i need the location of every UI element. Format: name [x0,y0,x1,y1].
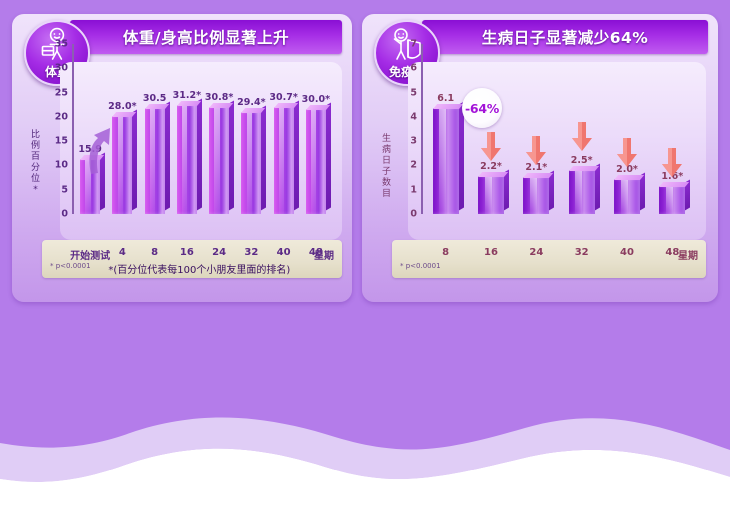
bar: 29.4* [241,112,261,214]
bar-face [145,108,165,214]
bar-value-label: 31.2* [173,90,201,101]
bar-face [659,186,685,214]
down-arrow-icon [480,132,502,162]
bar-top [523,173,553,178]
bar: 2.2* [478,176,504,214]
weight-x-axis-floor: 开始测试481624324048 星期 * p<0.0001 *(百分位代表每1… [42,240,342,278]
weight-title-bar: 体重/身高比例显著上升 [70,20,342,54]
bar-top [478,172,508,177]
bar-gloss [182,105,187,214]
y-tick: 30 [55,63,68,74]
immunity-title: 生病日子显著减少64% [482,26,649,48]
x-tick: 24 [529,247,543,258]
y-tick: 2 [410,160,417,171]
bar-value-label: 2.2* [480,161,502,172]
bar-face [241,112,261,214]
weight-title: 体重/身高比例显著上升 [123,26,289,48]
bar-side [260,105,266,211]
bar-top [241,108,265,113]
bar-face [177,105,197,214]
bar-face [523,177,549,214]
bar: 30.8* [209,107,229,214]
bar-gloss [485,176,492,214]
bar-face [433,108,459,214]
y-tick: 0 [61,209,68,220]
bar: 1.6* [659,186,685,214]
bar-top [145,104,169,109]
y-tick: 35 [55,39,68,50]
weight-x-unit: 星期 [314,247,334,262]
bar-face [569,170,595,214]
bar-side [228,100,234,211]
y-tick: 5 [410,87,417,98]
down-arrow-icon [571,122,593,152]
immunity-title-bar: 生病日子显著减少64% [422,20,708,54]
y-tick: 20 [55,111,68,122]
bar-gloss [214,107,219,214]
y-tick: 3 [410,136,417,147]
bar-gloss [530,177,537,214]
y-tick: 4 [410,111,417,122]
x-tick: 40 [620,247,634,258]
bar: 30.7* [274,107,294,214]
bar-face [306,109,326,214]
bar-value-label: 30.7* [269,92,297,103]
immunity-footnote-p: * p<0.0001 [400,262,441,270]
y-tick: 6 [410,63,417,74]
bar-value-label: 30.8* [205,92,233,103]
bar-value-label: 28.0* [108,101,136,112]
bar: 2.1* [523,177,549,214]
bar: 30.5 [145,108,165,214]
x-tick: 4 [119,247,126,258]
immunity-y-ticks: 01234567 [395,44,417,214]
immunity-x-axis-floor: 81624324048 星期 * p<0.0001 [392,240,706,278]
bar-face [478,176,504,214]
weight-chart-panel: 体重/身高比例显著上升 体重 比例百分位 * [12,14,352,302]
bar-top [614,175,644,180]
weight-footnote-p: * p<0.0001 [50,262,91,270]
bar-gloss [311,109,316,214]
y-tick: 10 [55,160,68,171]
reduction-callout: -64% [462,88,502,128]
weight-y-axis-title: 比例百分位 * [29,130,42,196]
bar-side [131,110,137,211]
infographic-stage: 体重/身高比例显著上升 体重 比例百分位 * [0,0,730,519]
bar-top [659,182,689,187]
y-tick: 0 [410,209,417,220]
bar-gloss [279,107,284,214]
bar-value-label: 30.0* [302,94,330,105]
x-tick: 8 [151,247,158,258]
x-tick: 8 [442,247,449,258]
y-tick: 7 [410,39,417,50]
down-arrow-icon [616,138,638,168]
immunity-chart-panel: 生病日子显著减少64% 免疫力 生病日子数目 [362,14,718,302]
bar-gloss [247,112,252,214]
bar-top [433,104,463,109]
weight-y-ticks: 05101520253035 [46,44,68,214]
y-tick: 15 [55,136,68,147]
bar-gloss [621,179,628,214]
bar-top [209,103,233,108]
x-tick: 16 [180,247,194,258]
bar-value-label: 2.5* [571,155,593,166]
bar-face [274,107,294,214]
x-tick: 32 [244,247,258,258]
x-tick: 16 [484,247,498,258]
x-tick: 开始测试 [70,247,110,262]
bar-value-label: 30.5 [143,93,166,104]
bar-face [614,179,640,214]
bar: 2.0* [614,179,640,214]
weight-footnote-note: *(百分位代表每100个小朋友里面的排名) [108,261,290,276]
bar: 2.5* [569,170,595,214]
bar-value-label: 6.1 [437,93,454,104]
x-tick: 24 [212,247,226,258]
bar-gloss [575,170,582,214]
bar-face [209,107,229,214]
y-tick: 1 [410,184,417,195]
bar: 30.0* [306,109,326,214]
x-tick: 32 [575,247,589,258]
decorative-wave [0,395,730,519]
reduction-callout-label: -64% [465,101,499,116]
down-arrow-icon [661,148,683,178]
bar-top [274,103,298,108]
immunity-y-axis-title: 生病日子数目 [380,134,393,200]
bar-gloss [439,108,446,214]
bar-top [569,166,599,171]
curved-up-arrow-icon [82,122,122,178]
x-tick: 40 [277,247,291,258]
y-tick: 25 [55,87,68,98]
bar-value-label: 29.4* [237,97,265,108]
immunity-x-unit: 星期 [678,247,698,262]
bar: 31.2* [177,105,197,214]
bar-gloss [666,186,673,214]
bar-gloss [150,108,155,214]
y-tick: 5 [61,184,68,195]
down-arrow-icon [525,136,547,166]
bar: 6.1 [433,108,459,214]
